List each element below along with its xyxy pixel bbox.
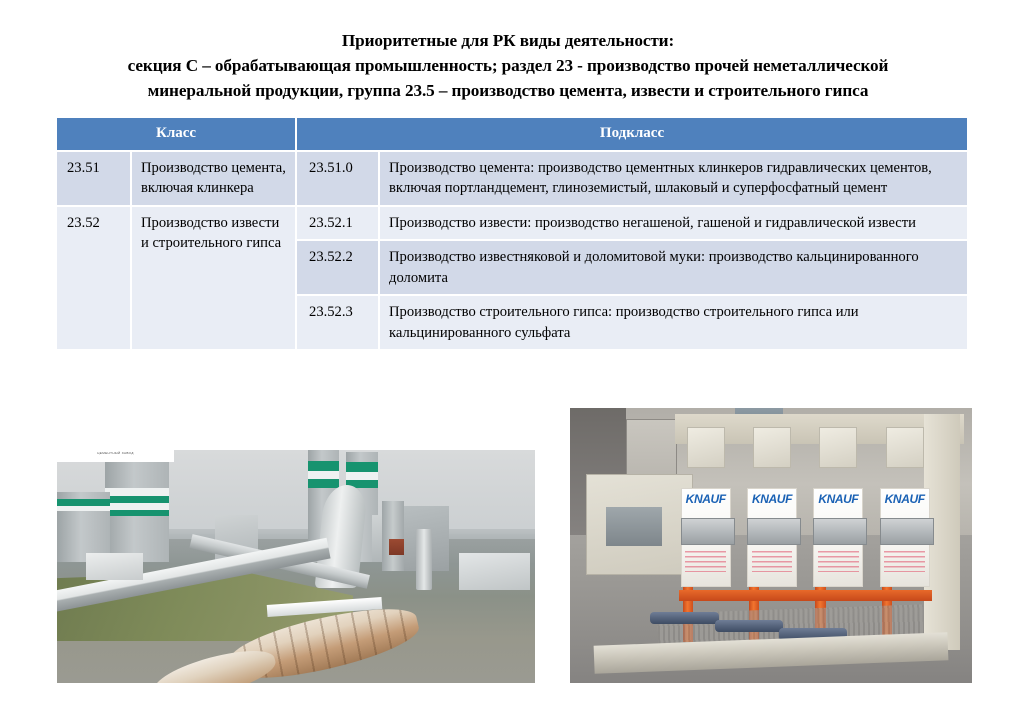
class-name-cell: Производство цемента, включая клинкера (132, 152, 297, 207)
bag-red-text-block (884, 551, 925, 572)
bag-brand-label: KNAUF (686, 492, 726, 506)
photo-gypsum-bagging-line: KNAUF KNAUF KNAUF KNAUF (570, 408, 972, 683)
photo-cement-plant: STANDARD CEMENT STANDARD CEMENT ЦЕМЕНТНЫ… (57, 450, 535, 683)
exhaust-stack (416, 529, 432, 590)
bag-clamp-1 (681, 518, 735, 545)
bag-brand-label: KNAUF (752, 492, 792, 506)
bag-brand-label: KNAUF (818, 492, 858, 506)
subclass-name-cell: Производство известняковой и доломитовой… (380, 241, 967, 296)
title-line-1: Приоритетные для РК виды деятельности: (0, 28, 1016, 53)
activities-table: Класс Подкласс 23.51 Производство цемент… (57, 118, 967, 351)
packaging-machine-window (606, 507, 662, 546)
column-header-klass: Класс (57, 118, 297, 152)
subclass-code-cell: 23.52.2 (297, 241, 380, 296)
bag-clamp-3 (813, 518, 867, 545)
bag-clamp-4 (880, 518, 934, 545)
bag-red-text-block (752, 551, 793, 572)
subclass-name-cell: Производство цемента: производство цемен… (380, 152, 967, 207)
table-row: 23.51 Производство цемента, включая клин… (57, 152, 967, 207)
title-line-3: минеральной продукции, группа 23.5 – про… (0, 78, 1016, 103)
table-header-row: Класс Подкласс (57, 118, 967, 152)
filling-head-4 (886, 427, 924, 468)
plant-building-5 (459, 553, 531, 590)
table-row: 23.52 Производство извести и строительно… (57, 207, 967, 242)
orange-cross-beam (679, 590, 932, 601)
class-code-cell: 23.52 (57, 207, 132, 352)
filling-head-3 (819, 427, 857, 468)
silo-tower-1 (105, 459, 170, 562)
watermark-subtext: ЦЕМЕНТНЫЙ ЗАВОД (97, 451, 134, 455)
subclass-code-cell: 23.51.0 (297, 152, 380, 207)
title-line-2: секция C – обрабатывающая промышленность… (0, 53, 1016, 78)
table-body: 23.51 Производство цемента, включая клин… (57, 152, 967, 352)
bag-red-text-block (685, 551, 726, 572)
subclass-name-cell: Производство извести: производство негаш… (380, 207, 967, 242)
bag-red-text-block (818, 551, 859, 572)
bag-clamp-2 (747, 518, 801, 545)
page-title: Приоритетные для РК виды деятельности: с… (0, 28, 1016, 103)
conveyor-roller-2 (715, 620, 783, 633)
class-name-cell: Производство извести и строительного гип… (132, 207, 297, 352)
slide-root: Приоритетные для РК виды деятельности: с… (0, 0, 1016, 720)
silo-tower-2 (57, 492, 110, 562)
preheater-tower (382, 501, 404, 571)
subclass-code-cell: 23.52.1 (297, 207, 380, 242)
conveyor-roller-1 (650, 612, 718, 625)
table-head: Класс Подкласс (57, 118, 967, 152)
subclass-code-cell: 23.52.3 (297, 296, 380, 351)
class-code-cell: 23.51 (57, 152, 132, 207)
subclass-name-cell: Производство строительного гипса: произв… (380, 296, 967, 351)
standard-cement-watermark: STANDARD CEMENT STANDARD CEMENT ЦЕМЕНТНЫ… (57, 450, 174, 462)
column-header-podklass: Подкласс (297, 118, 967, 152)
red-equipment (389, 539, 403, 555)
filling-head-2 (753, 427, 791, 468)
filling-head-1 (687, 427, 725, 468)
bag-brand-label: KNAUF (885, 492, 925, 506)
plant-building-4 (86, 553, 143, 581)
